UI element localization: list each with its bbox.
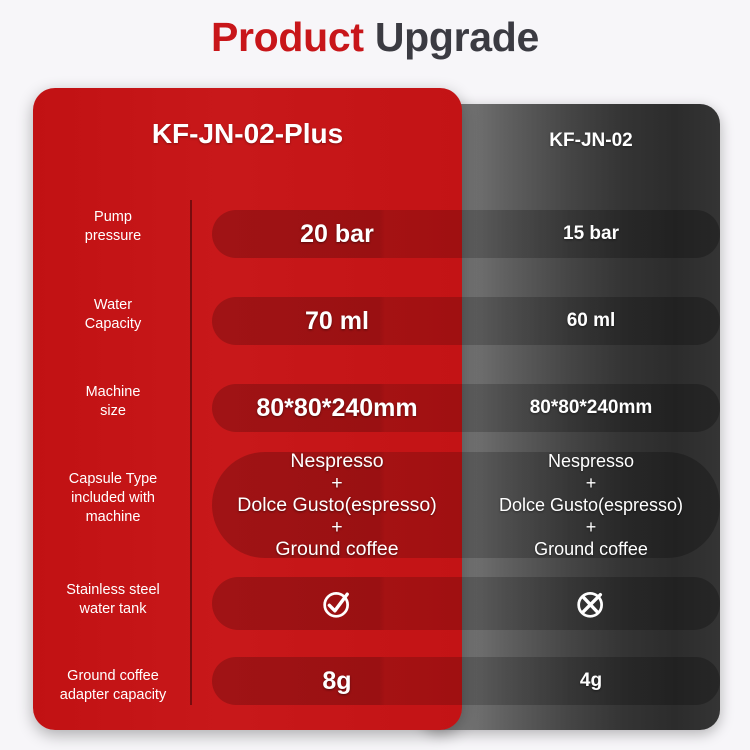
value-cell-right: Nespresso+Dolce Gusto(espresso)+Ground c… <box>462 452 720 558</box>
row-values: 8g4g <box>212 657 720 705</box>
value-cell-right <box>462 577 720 630</box>
check-circle-icon <box>320 587 354 621</box>
row-label: Stainless steelwater tank <box>40 581 186 619</box>
row-values: 70 ml60 ml <box>212 297 720 345</box>
cross-circle-icon <box>574 587 608 621</box>
product-name-right: KF-JN-02 <box>462 130 720 152</box>
page-title: Product Upgrade <box>0 14 750 61</box>
column-divider <box>190 200 192 705</box>
value-cell-right: 80*80*240mm <box>462 384 720 432</box>
row-label: Ground coffeeadapter capacity <box>40 667 186 705</box>
value-cell-left: Nespresso+Dolce Gusto(espresso)+Ground c… <box>212 452 462 558</box>
value-cell-left: 8g <box>212 657 462 705</box>
row-label: Pumppressure <box>40 208 186 246</box>
value-cell-left: 20 bar <box>212 210 462 258</box>
value-cell-right: 60 ml <box>462 297 720 345</box>
value-cell-left <box>212 577 462 630</box>
value-cell-left: 70 ml <box>212 297 462 345</box>
row-label: WaterCapacity <box>40 296 186 334</box>
row-values <box>212 577 720 630</box>
value-cell-left: 80*80*240mm <box>212 384 462 432</box>
row-label: Capsule Typeincluded withmachine <box>40 470 186 527</box>
comparison-infographic: Product Upgrade KF-JN-02-Plus KF-JN-02 P… <box>0 0 750 750</box>
title-highlight: Product <box>211 14 364 60</box>
row-label: Machinesize <box>40 383 186 421</box>
value-cell-right: 4g <box>462 657 720 705</box>
title-rest: Upgrade <box>364 14 539 60</box>
row-values: 20 bar15 bar <box>212 210 720 258</box>
value-cell-right: 15 bar <box>462 210 720 258</box>
row-values: Nespresso+Dolce Gusto(espresso)+Ground c… <box>212 452 720 558</box>
row-values: 80*80*240mm80*80*240mm <box>212 384 720 432</box>
product-name-left: KF-JN-02-Plus <box>33 118 462 150</box>
